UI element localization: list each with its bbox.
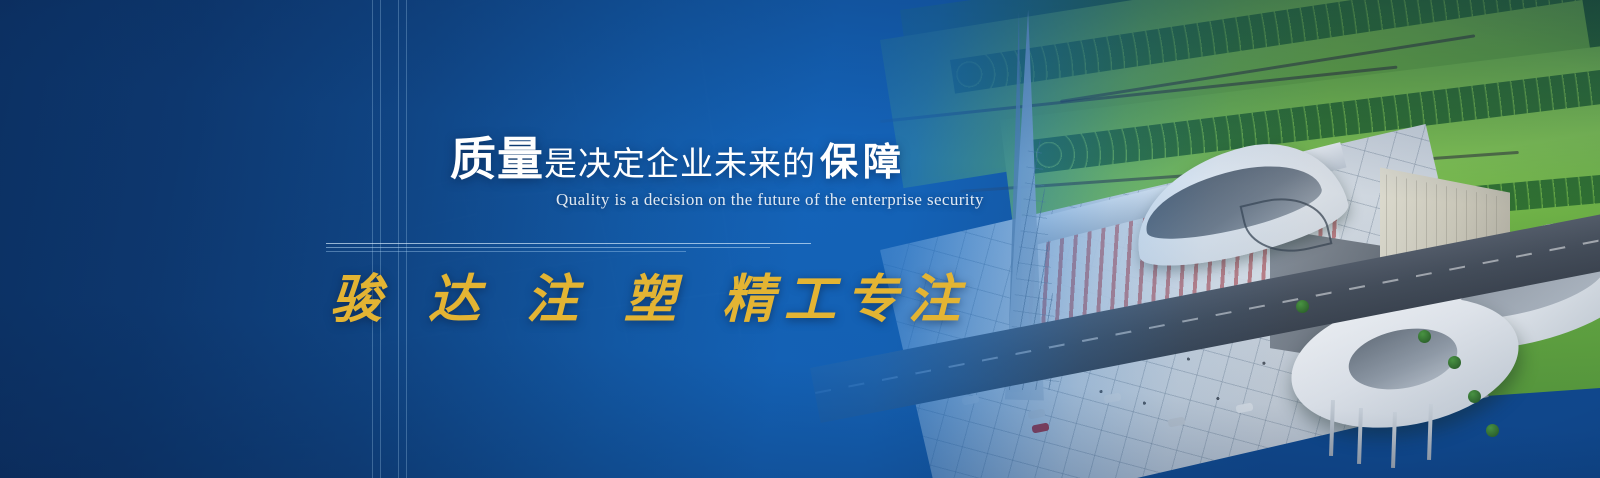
hero-banner: 质量是决定企业未来的保障 Quality is a decision on th…: [0, 0, 1600, 478]
vertical-accent-line: [406, 0, 407, 478]
vertical-accent-line: [398, 0, 399, 478]
vertical-accent-line: [372, 0, 373, 478]
vignette-overlay: [0, 0, 1600, 478]
vertical-accent-line: [380, 0, 381, 478]
